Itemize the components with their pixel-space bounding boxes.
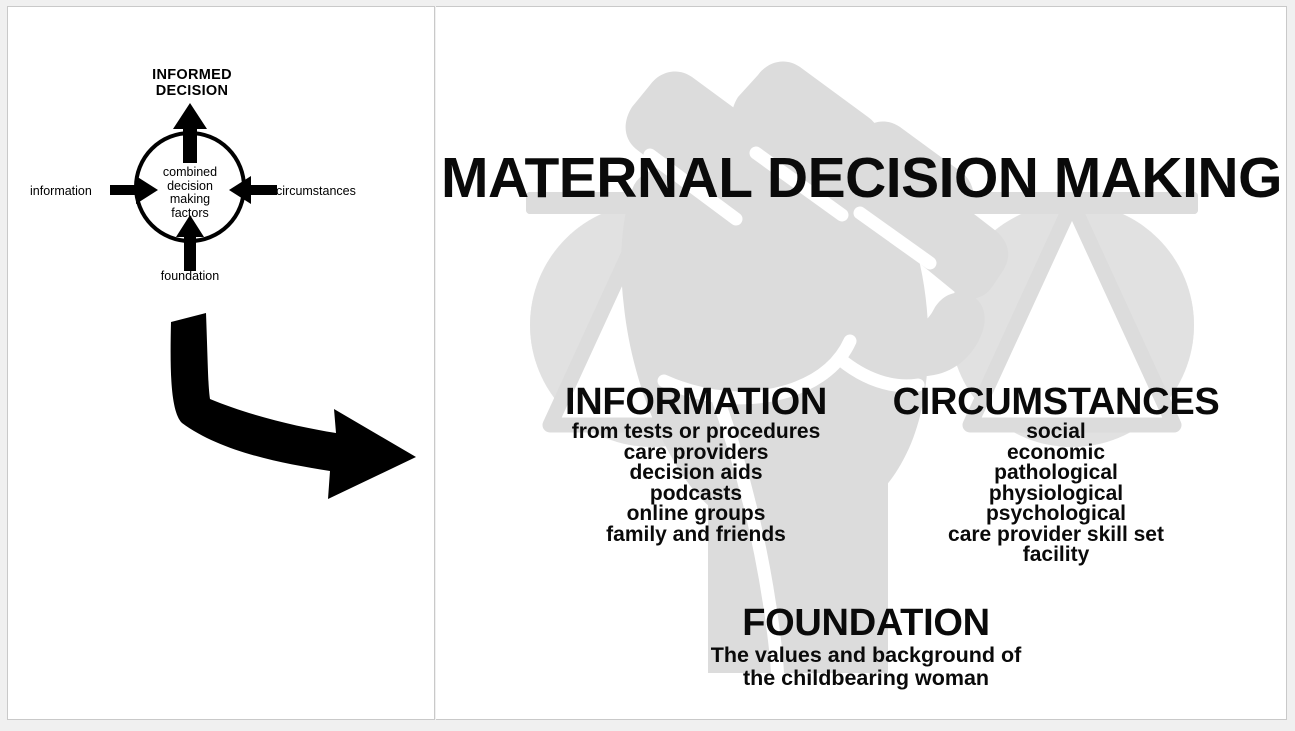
decision-factors-diagram: INFORMED DECISION combined decision maki… [8,7,435,307]
foundation-heading: FOUNDATION [596,602,1136,644]
circumstances-column: CIRCUMSTANCES social economic pathologic… [836,382,1276,566]
foundation-block: FOUNDATION The values and background of … [596,602,1136,690]
list-item: economic [836,443,1276,464]
informed-decision-line-2: DECISION [112,83,272,99]
left-slide: INFORMED DECISION combined decision maki… [7,6,435,720]
circumstances-list: social economic pathological physiologic… [836,422,1276,566]
circumstances-heading: CIRCUMSTANCES [836,382,1276,422]
foundation-sub-line-2: the childbearing woman [596,667,1136,690]
foundation-line-1: The values and background of the childbe… [596,644,1136,690]
right-slide: MATERNAL DECISION MAKING INFORMATION fro… [436,6,1287,720]
informed-decision-line-1: INFORMED [112,67,272,83]
list-item: physiological [836,484,1276,505]
informed-decision-label: INFORMED DECISION [112,67,272,99]
list-item: social [836,422,1276,443]
arrow-up-foundation-icon [171,215,209,271]
diagram-label-foundation: foundation [146,269,234,283]
list-item: psychological [836,504,1276,525]
list-item: facility [836,545,1276,566]
arrow-left-circumstances-icon [229,175,277,205]
list-item: pathological [836,463,1276,484]
slide-canvas: INFORMED DECISION combined decision maki… [0,0,1295,731]
foundation-sub-line-1: The values and background of [596,644,1136,667]
curved-arrow-icon [158,307,428,507]
list-item: care provider skill set [836,525,1276,546]
page-title: MATERNAL DECISION MAKING [436,146,1287,210]
diagram-label-information: information [30,184,92,198]
arrow-right-information-icon [110,175,158,205]
diagram-label-circumstances: circumstances [276,184,356,198]
